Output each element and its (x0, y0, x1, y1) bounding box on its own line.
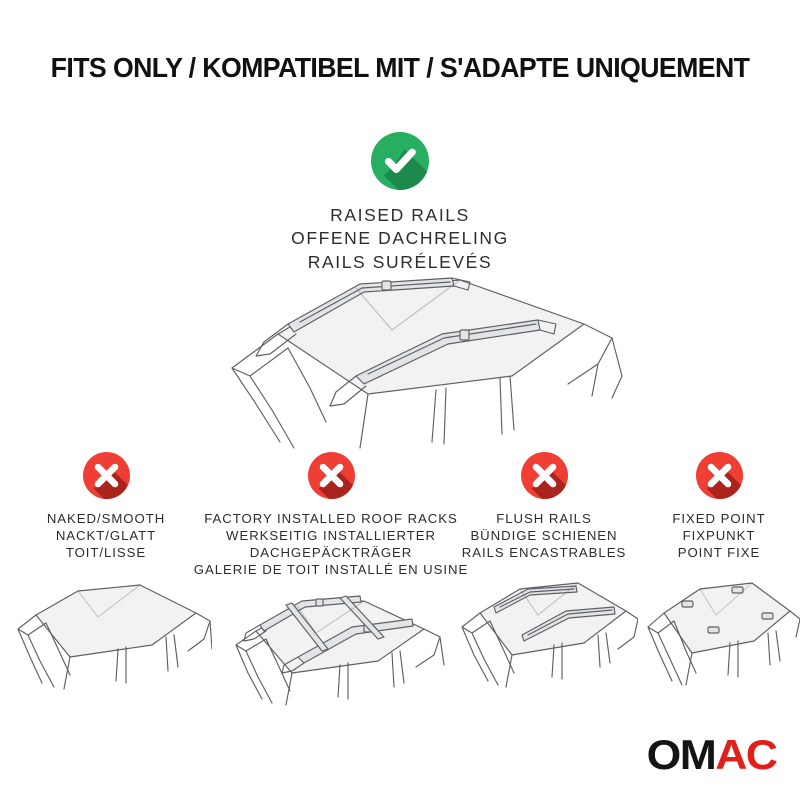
page-title: FITS ONLY / KOMPATIBEL MIT / S'ADAPTE UN… (12, 52, 788, 84)
incompatible-label-line: WERKSEITIG INSTALLIERTER (194, 527, 468, 544)
incompatible-item-fixed-point: FIXED POINT FIXPUNKT POINT FIXE (638, 452, 800, 713)
check-circle-icon (371, 132, 429, 190)
compatible-label-line: RAILS SURÉLEVÉS (291, 251, 509, 274)
incompatible-label-line: FIXED POINT (672, 510, 765, 527)
incompatible-label-line: FIXPUNKT (672, 527, 765, 544)
incompatible-section: NAKED/SMOOTH NACKT/GLATT TOIT/LISSE (0, 452, 800, 713)
x-circle-icon (696, 452, 743, 499)
car-roof-flush-rails-illustration (450, 569, 638, 695)
x-circle-icon (521, 452, 568, 499)
incompatible-item-factory-roof-racks: FACTORY INSTALLED ROOF RACKS WERKSEITIG … (212, 452, 450, 713)
incompatible-label-line: BÜNDIGE SCHIENEN (462, 527, 626, 544)
incompatible-label-line: POINT FIXE (672, 544, 765, 561)
incompatible-label-line: RAILS ENCASTRABLES (462, 544, 626, 561)
x-circle-icon (308, 452, 355, 499)
incompatible-labels: FIXED POINT FIXPUNKT POINT FIXE (672, 510, 765, 561)
incompatible-label-line: DACHGEPÄCKTRÄGER (194, 544, 468, 561)
x-circle-icon (83, 452, 130, 499)
incompatible-item-naked-smooth: NAKED/SMOOTH NACKT/GLATT TOIT/LISSE (0, 452, 212, 713)
compatible-section: RAISED RAILS OFFENE DACHRELING RAILS SUR… (0, 132, 800, 274)
car-roof-raised-rails-illustration (160, 272, 640, 462)
compatible-label-line: OFFENE DACHRELING (291, 227, 509, 250)
incompatible-labels: FLUSH RAILS BÜNDIGE SCHIENEN RAILS ENCAS… (462, 510, 626, 561)
compatible-label-line: RAISED RAILS (291, 204, 509, 227)
incompatible-label-line: NACKT/GLATT (47, 527, 165, 544)
car-roof-fixed-point-illustration (638, 569, 800, 695)
incompatible-label-line: NAKED/SMOOTH (47, 510, 165, 527)
incompatible-label-line: FACTORY INSTALLED ROOF RACKS (194, 510, 468, 527)
logo-text-dark: OM (646, 731, 715, 778)
incompatible-label-line: GALERIE DE TOIT INSTALLÉ EN USINE (194, 561, 468, 578)
compatible-labels: RAISED RAILS OFFENE DACHRELING RAILS SUR… (291, 204, 509, 274)
car-roof-naked-smooth-illustration (0, 569, 212, 695)
incompatible-labels: NAKED/SMOOTH NACKT/GLATT TOIT/LISSE (47, 510, 165, 561)
logo-text-red: AC (715, 731, 776, 778)
incompatible-label-line: TOIT/LISSE (47, 544, 165, 561)
incompatible-item-flush-rails: FLUSH RAILS BÜNDIGE SCHIENEN RAILS ENCAS… (450, 452, 638, 713)
omac-logo: OMAC (646, 734, 776, 776)
incompatible-label-line: FLUSH RAILS (462, 510, 626, 527)
car-roof-factory-roof-racks-illustration (212, 587, 450, 713)
incompatible-labels: FACTORY INSTALLED ROOF RACKS WERKSEITIG … (194, 510, 468, 579)
